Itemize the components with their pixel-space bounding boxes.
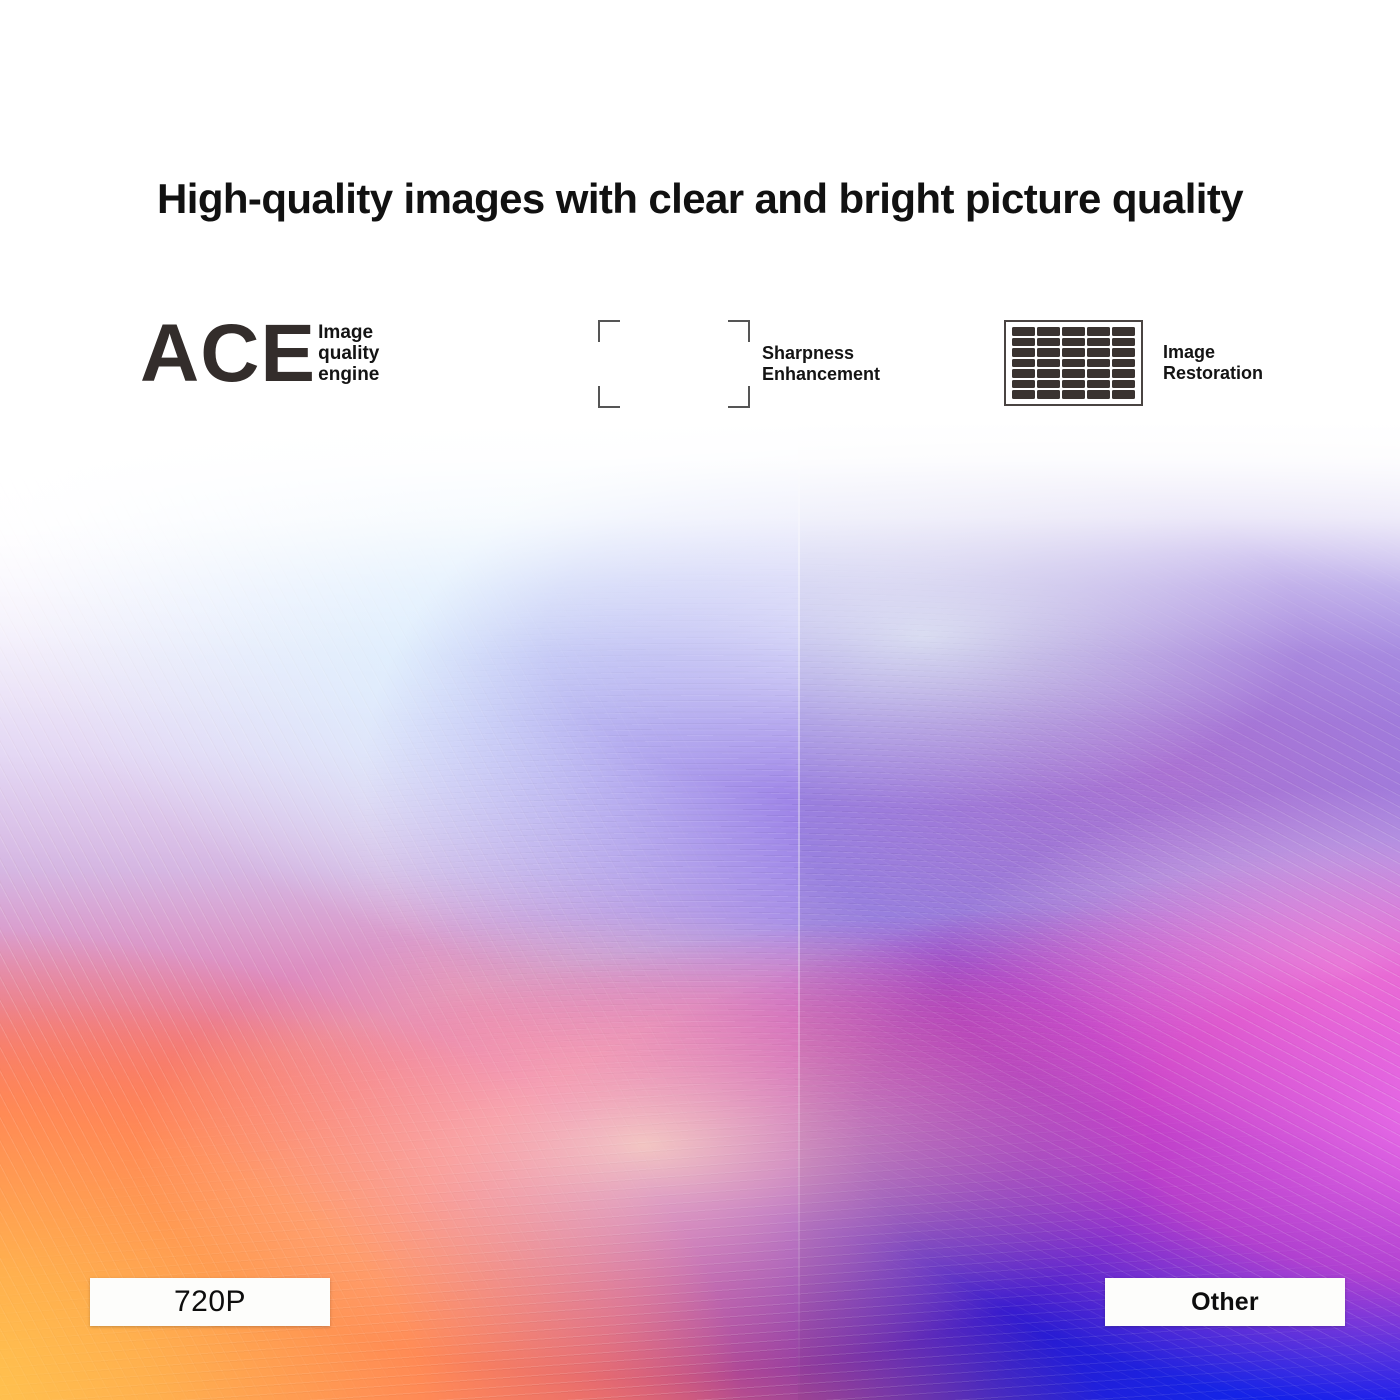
pixel-grid-cell (1062, 390, 1085, 399)
pixel-grid-cell (1012, 338, 1035, 347)
focus-brackets-icon (598, 320, 750, 408)
feature-ace-label-line-1: Image (318, 322, 379, 343)
pixel-grid-cell (1087, 348, 1110, 357)
pixel-grid-cell (1012, 369, 1035, 378)
pixel-grid-cell (1112, 327, 1135, 336)
pixel-grid-cell (1012, 380, 1035, 389)
comparison-image (0, 420, 1400, 1400)
pixel-grid-cell (1112, 359, 1135, 368)
comparison-right-tag: Other (1105, 1278, 1345, 1326)
ace-wordmark-icon: ACE (140, 320, 316, 387)
pixel-grid-cell (1087, 369, 1110, 378)
pixel-grid-cell (1087, 390, 1110, 399)
pixel-grid-cell (1012, 359, 1035, 368)
pixel-grid-cell (1037, 359, 1060, 368)
feature-sharpness-label-line-1: Sharpness (762, 343, 880, 364)
comparison-left-tag: 720P (90, 1278, 330, 1326)
feature-sharpness: Sharpness Enhancement (598, 320, 880, 408)
focus-bracket-bottom-left-icon (598, 386, 620, 408)
pixel-grid-cell (1062, 359, 1085, 368)
focus-bracket-top-left-icon (598, 320, 620, 342)
pixel-grid-cell (1037, 327, 1060, 336)
comparison-split-divider[interactable] (798, 420, 800, 1400)
pixel-grid-cell (1087, 327, 1110, 336)
feature-restoration-label-line-1: Image (1163, 342, 1263, 363)
focus-bracket-bottom-right-icon (728, 386, 750, 408)
feature-row: ACE Image quality engine Sharpness Enhan… (0, 320, 1400, 430)
focus-bracket-top-right-icon (728, 320, 750, 342)
pixel-grid-cell (1112, 338, 1135, 347)
feature-restoration-label: Image Restoration (1163, 342, 1263, 384)
pixel-grid-cell (1062, 338, 1085, 347)
feature-ace-label-line-3: engine (318, 364, 379, 385)
pixel-grid-cell (1087, 359, 1110, 368)
pixel-grid-cell (1037, 390, 1060, 399)
pixel-grid-cell (1012, 348, 1035, 357)
feature-ace: ACE Image quality engine (140, 320, 379, 387)
feature-sharpness-label-line-2: Enhancement (762, 364, 880, 385)
pixel-grid-cell (1112, 390, 1135, 399)
pixel-grid-cell (1087, 338, 1110, 347)
feature-ace-label: Image quality engine (318, 322, 379, 386)
pixel-grid-cell (1062, 369, 1085, 378)
feature-restoration: Image Restoration (1004, 320, 1263, 406)
pixel-grid-icon (1004, 320, 1143, 406)
top-white-fade (0, 420, 1400, 1400)
page-title: High-quality images with clear and brigh… (0, 176, 1400, 222)
feature-ace-label-line-2: quality (318, 343, 379, 364)
pixel-grid-cell (1112, 348, 1135, 357)
pixel-grid-cell (1012, 327, 1035, 336)
pixel-grid-cell (1112, 369, 1135, 378)
pixel-grid-cell (1037, 380, 1060, 389)
pixel-grid-cell (1112, 380, 1135, 389)
feature-sharpness-label: Sharpness Enhancement (762, 343, 880, 385)
promo-page: High-quality images with clear and brigh… (0, 0, 1400, 1400)
pixel-grid-cell (1062, 380, 1085, 389)
pixel-grid-cell (1062, 348, 1085, 357)
pixel-grid-cell (1037, 348, 1060, 357)
pixel-grid-cell (1037, 369, 1060, 378)
feature-restoration-label-line-2: Restoration (1163, 363, 1263, 384)
pixel-grid-cell (1087, 380, 1110, 389)
pixel-grid-cell (1062, 327, 1085, 336)
pixel-grid-cell (1012, 390, 1035, 399)
pixel-grid-cell (1037, 338, 1060, 347)
